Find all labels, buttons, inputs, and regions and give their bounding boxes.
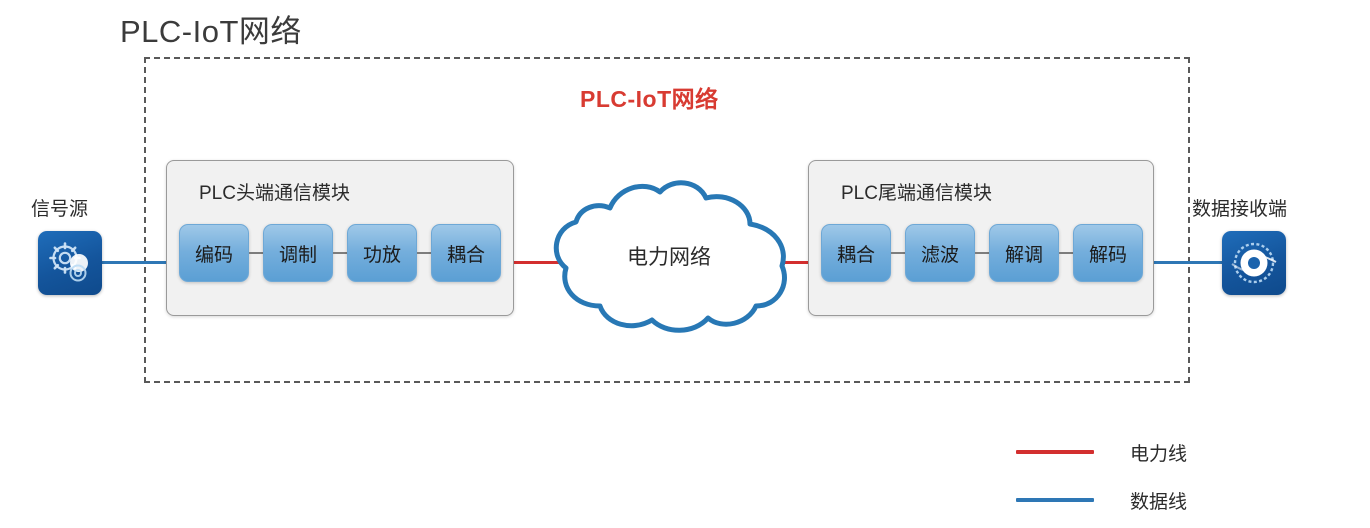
stage-block-couple-tx[interactable]: 耦合	[431, 224, 501, 282]
legend-label-data-line: 数据线	[1130, 487, 1187, 514]
legend: 电力线 数据线	[1016, 428, 1187, 524]
stage-connector	[975, 252, 989, 254]
destination-node[interactable]	[1222, 231, 1286, 295]
cloud-shape-icon	[540, 172, 798, 340]
gears-icon	[47, 241, 93, 285]
legend-item-power: 电力线	[1016, 428, 1187, 476]
stage-connector	[891, 252, 905, 254]
power-grid-cloud[interactable]: 电力网络	[540, 172, 798, 340]
source-node[interactable]	[38, 231, 102, 295]
stage-block-amplify[interactable]: 功放	[347, 224, 417, 282]
legend-item-data: 数据线	[1016, 476, 1187, 524]
stage-block-couple-rx[interactable]: 耦合	[821, 224, 891, 282]
diagram-canvas: PLC-IoT网络 PLC-IoT网络 信号源	[0, 0, 1370, 528]
module-tail-title: PLC尾端通信模块	[841, 178, 992, 205]
stage-connector	[1059, 252, 1073, 254]
stage-block-modulate[interactable]: 调制	[263, 224, 333, 282]
legend-label-power-line: 电力线	[1130, 439, 1187, 466]
destination-node-label: 数据接收端	[1192, 194, 1287, 221]
target-circle-icon	[1231, 240, 1277, 286]
stage-block-demodulate[interactable]: 解调	[989, 224, 1059, 282]
module-head-stages: 编码 调制 功放 耦合	[179, 224, 501, 282]
stage-block-filter[interactable]: 滤波	[905, 224, 975, 282]
legend-swatch-power-line	[1016, 450, 1094, 454]
link-source-to-head	[102, 261, 168, 264]
module-tail-stages: 耦合 滤波 解调 解码	[821, 224, 1143, 282]
module-head-title: PLC头端通信模块	[199, 178, 350, 205]
module-head[interactable]: PLC头端通信模块 编码 调制 功放 耦合	[166, 160, 514, 316]
legend-swatch-data-line	[1016, 498, 1094, 502]
stage-block-decode[interactable]: 解码	[1073, 224, 1143, 282]
stage-connector	[333, 252, 347, 254]
module-tail[interactable]: PLC尾端通信模块 耦合 滤波 解调 解码	[808, 160, 1154, 316]
network-boundary-label: PLC-IoT网络	[580, 80, 719, 114]
page-title: PLC-IoT网络	[120, 6, 302, 51]
stage-block-encode[interactable]: 编码	[179, 224, 249, 282]
stage-connector	[249, 252, 263, 254]
source-node-label: 信号源	[31, 194, 88, 221]
stage-connector	[417, 252, 431, 254]
